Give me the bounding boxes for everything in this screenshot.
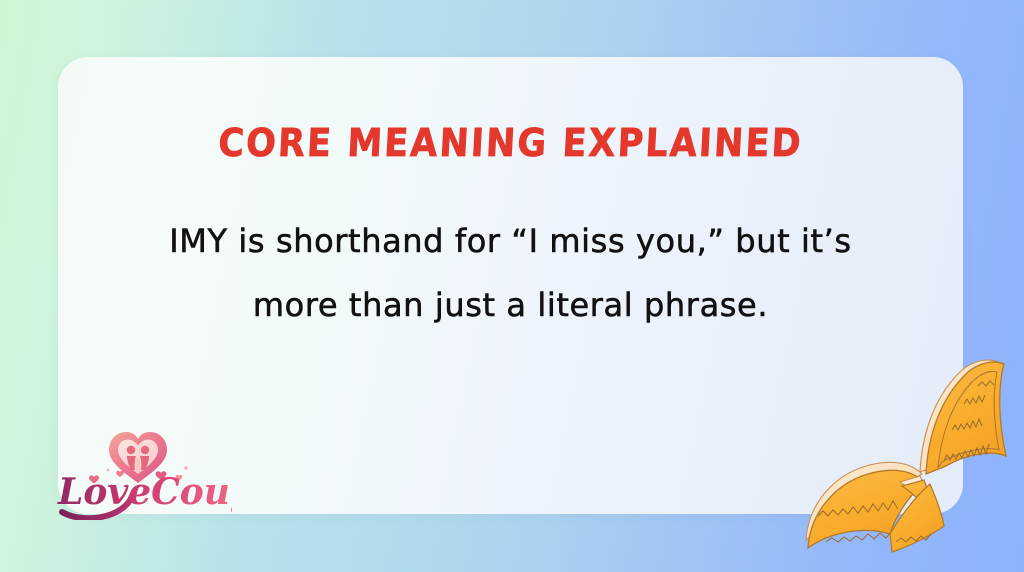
heart-couple-icon: LoveCouplez (54, 428, 232, 520)
brand-wordmark: LoveCouplez (57, 471, 232, 513)
body-paragraph: IMY is shorthand for “I miss you,” but i… (128, 209, 893, 337)
slide-canvas: Core Meaning Explained IMY is shorthand … (0, 0, 1024, 572)
page-title: Core Meaning Explained (57, 122, 964, 166)
brand-logo[interactable]: LoveCouplez (54, 428, 232, 520)
